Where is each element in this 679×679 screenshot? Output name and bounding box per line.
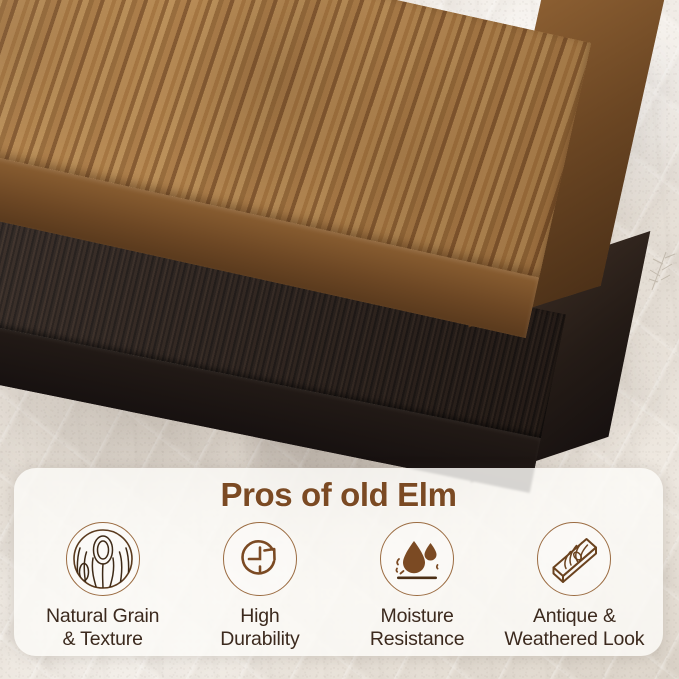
feature-label: Antique & Weathered Look (504, 605, 644, 651)
feature-list: Natural Grain & Texture High Durability (14, 522, 663, 651)
dried-sprig-icon (648, 246, 679, 292)
feature-label: Natural Grain & Texture (46, 605, 159, 651)
wood-plank-icon (546, 531, 602, 587)
pros-info-card: Pros of old Elm (14, 468, 663, 656)
feature-natural-grain: Natural Grain & Texture (24, 522, 181, 651)
wood-grain-icon-circle (66, 522, 140, 596)
water-droplet-icon (391, 533, 443, 585)
feature-label: High Durability (220, 605, 299, 651)
card-title: Pros of old Elm (14, 476, 663, 514)
feature-antique-weathered: Antique & Weathered Look (496, 522, 653, 651)
feature-moisture-resistance: Moisture Resistance (339, 522, 496, 651)
feature-high-durability: High Durability (181, 522, 338, 651)
wood-grain-icon (72, 528, 134, 590)
feature-label: Moisture Resistance (370, 605, 464, 651)
water-droplet-icon-circle (380, 522, 454, 596)
clock-refresh-icon-circle (223, 522, 297, 596)
product-photo-scene: Pros of old Elm (0, 0, 679, 679)
wood-plank-icon-circle (537, 522, 611, 596)
clock-refresh-icon (236, 535, 284, 583)
